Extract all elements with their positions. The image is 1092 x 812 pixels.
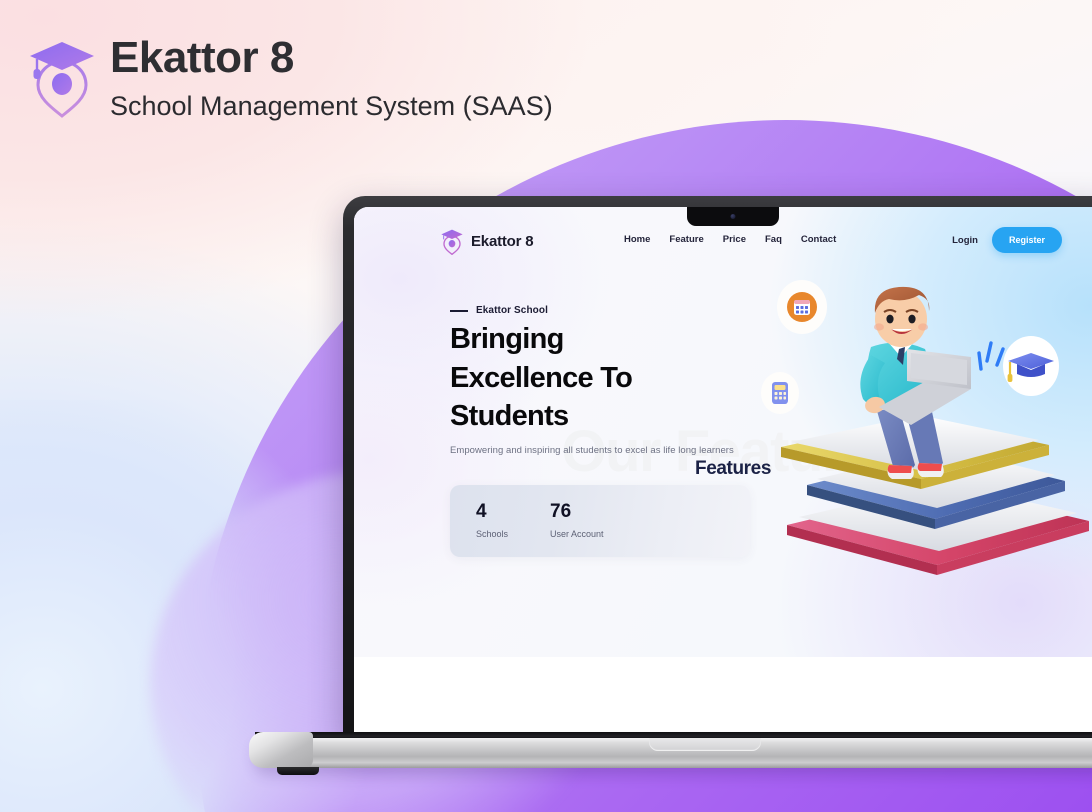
- nav-item-home[interactable]: Home: [624, 234, 650, 245]
- stat-schools-value: 4: [476, 502, 508, 521]
- hero-stats-card: 4 Schools 76 User Account: [450, 485, 750, 557]
- stat-schools: 4 Schools: [476, 502, 508, 539]
- sneaker-left: [888, 465, 914, 479]
- site-nav-links: Home Feature Price Faq Contact: [624, 234, 836, 245]
- webcam-icon: [731, 214, 736, 219]
- stat-user-account-label: User Account: [550, 529, 604, 539]
- laptop-lid: Ekattor 8 Home Feature Price Faq Contact…: [343, 196, 1092, 736]
- poster-title: Ekattor 8: [110, 36, 294, 80]
- laptop-mockup: Ekattor 8 Home Feature Price Faq Contact…: [343, 196, 1092, 756]
- hero-eyebrow: Ekattor School: [450, 305, 548, 316]
- hero-headline-line-2: Excellence To: [450, 359, 632, 398]
- site-nav-actions: Login Register: [952, 227, 1062, 253]
- hero-headline-line-3: Students: [450, 397, 632, 436]
- badge-calculator-icon: [761, 372, 799, 414]
- badge-calendar-icon: [777, 280, 827, 334]
- graduation-cap-pin-logo-icon: [440, 227, 464, 255]
- login-link[interactable]: Login: [952, 235, 978, 246]
- hero-illustration-boy-with-laptop-on-books: [759, 279, 1092, 579]
- stat-schools-label: Schools: [476, 529, 508, 539]
- nav-item-feature[interactable]: Feature: [669, 234, 703, 245]
- nav-item-faq[interactable]: Faq: [765, 234, 782, 245]
- nav-item-contact[interactable]: Contact: [801, 234, 836, 245]
- sneaker-right: [918, 463, 944, 477]
- laptop-base-left-cap: [249, 732, 313, 768]
- graduation-cap-pin-logo-icon: [26, 34, 98, 118]
- badge-graduation-cap-icon: [1003, 336, 1059, 396]
- site-navbar: Ekattor 8 Home Feature Price Faq Contact…: [354, 221, 1092, 265]
- hero-eyebrow-label: Ekattor School: [476, 305, 548, 316]
- poster-subtitle: School Management System (SAAS): [110, 93, 553, 120]
- poster-header: Ekattor 8 School Management System (SAAS…: [0, 0, 700, 140]
- hero-headline: Bringing Excellence To Students: [450, 320, 632, 436]
- site-brand-label: Ekattor 8: [471, 233, 533, 250]
- site-brand[interactable]: Ekattor 8: [440, 227, 533, 255]
- register-button[interactable]: Register: [992, 227, 1062, 253]
- stat-user-account-value: 76: [550, 502, 604, 521]
- spark-lines-icon: [979, 343, 1003, 369]
- laptop-base: [255, 732, 1092, 776]
- laptop-screen: Ekattor 8 Home Feature Price Faq Contact…: [354, 207, 1092, 736]
- laptop-base-foot: [277, 767, 319, 775]
- laptop-bezel: Ekattor 8 Home Feature Price Faq Contact…: [354, 207, 1092, 736]
- laptop-notch: [687, 207, 779, 226]
- hero-subtext: Empowering and inspiring all students to…: [450, 445, 734, 456]
- laptop-base-notch: [649, 738, 761, 751]
- hero-headline-line-1: Bringing: [450, 320, 632, 359]
- nav-item-price[interactable]: Price: [723, 234, 746, 245]
- eyebrow-dash-icon: [450, 310, 468, 312]
- poster-canvas: Ekattor 8 School Management System (SAAS…: [0, 0, 1092, 812]
- website-features-section: [354, 657, 1092, 736]
- stat-user-account: 76 User Account: [550, 502, 604, 539]
